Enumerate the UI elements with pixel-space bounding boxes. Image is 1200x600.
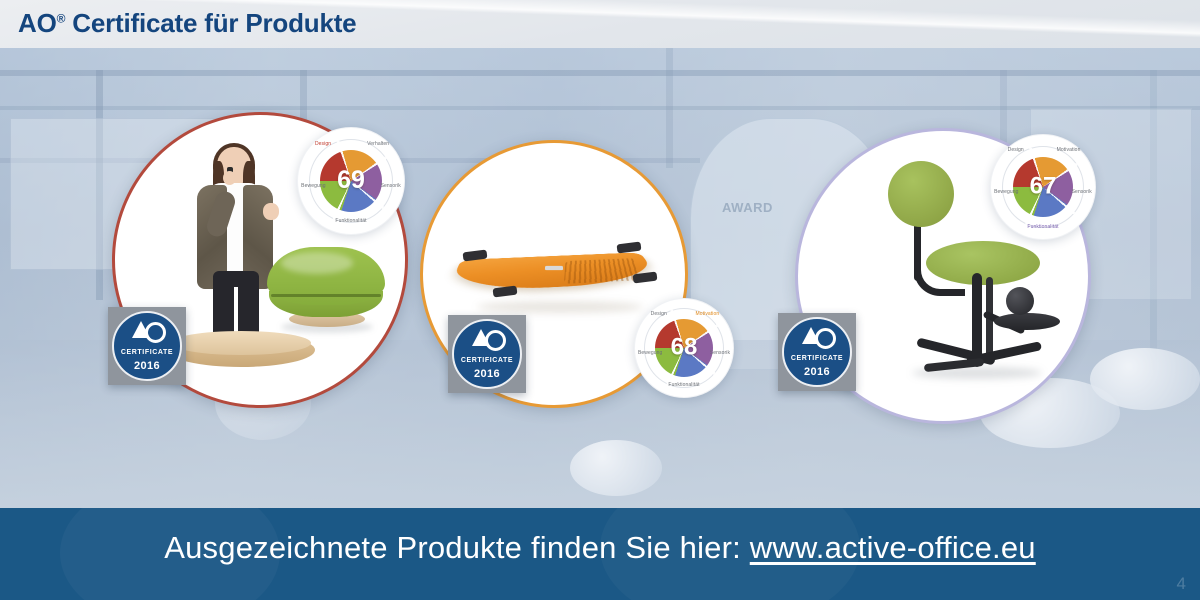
- badge-label-bewegung: Bewegung: [638, 350, 662, 356]
- booth-award-label: AWARD: [722, 200, 773, 215]
- seal-year: 2016: [134, 360, 160, 372]
- score-value-2: 68: [671, 333, 698, 361]
- certificate-seal-3[interactable]: CERTIFICATE 2016: [778, 313, 856, 391]
- certificate-seal-1[interactable]: CERTIFICATE 2016: [108, 307, 186, 385]
- score-badge-1[interactable]: 69 Design Verhalten Sensorik Funktionali…: [297, 127, 405, 235]
- product-1-green-stool: [267, 247, 385, 333]
- floor-object: [570, 440, 662, 496]
- seal-year: 2016: [804, 366, 830, 378]
- footer-text: Ausgezeichnete Produkte finden Sie hier:…: [0, 530, 1200, 566]
- title-rest: Certificate für Produkte: [65, 8, 356, 38]
- footer-url-link[interactable]: www.active-office.eu: [750, 530, 1036, 565]
- photo-stage: AWARD: [0, 48, 1200, 510]
- product-1-balance-board-top: [171, 331, 311, 355]
- hall-beam: [0, 70, 1200, 76]
- hall-beam: [0, 106, 1200, 110]
- badge-label-sensorik: Sensorik: [1072, 189, 1092, 195]
- badge-label-bewegung: Bewegung: [994, 189, 1018, 195]
- score-value-1: 69: [337, 166, 365, 195]
- ao-logo-icon: [472, 329, 502, 347]
- badge-label-design: Design: [1008, 147, 1024, 153]
- badge-label-motivation: Motivation: [1057, 147, 1081, 153]
- badge-label-sensorik: Sensorik: [381, 183, 401, 189]
- seal-certificate-text: CERTIFICATE: [121, 349, 173, 356]
- badge-label-sensorik: Sensorik: [710, 350, 730, 356]
- title-brand: AO: [18, 8, 57, 38]
- slide-root: AO® Certificate für Produkte AWARD: [0, 0, 1200, 600]
- badge-label-bewegung: Bewegung: [301, 183, 325, 189]
- seal-certificate-text: CERTIFICATE: [461, 357, 513, 364]
- seal-certificate-text: CERTIFICATE: [791, 355, 843, 362]
- badge-label-motivation: Motivation: [695, 311, 719, 317]
- badge-label-funktionalitaet: Funktionalität: [668, 382, 699, 388]
- floor-object: [1090, 348, 1200, 410]
- hall-column: [666, 48, 673, 168]
- seal-year: 2016: [474, 368, 500, 380]
- certificate-seal-2[interactable]: CERTIFICATE 2016: [448, 315, 526, 393]
- slide-header: AO® Certificate für Produkte: [0, 0, 1200, 48]
- score-value-3: 67: [1030, 172, 1057, 200]
- page-number: 4: [1177, 574, 1186, 594]
- score-badge-2[interactable]: 68 Design Motivation Sensorik Funktional…: [634, 298, 734, 398]
- registered-mark: ®: [57, 11, 66, 25]
- badge-label-design: Design: [315, 141, 331, 147]
- badge-label-funktionalitaet: Funktionalität: [1027, 224, 1058, 230]
- page-title: AO® Certificate für Produkte: [18, 8, 356, 39]
- product-2-wobble-board: [457, 229, 653, 311]
- slide-footer: Ausgezeichnete Produkte finden Sie hier:…: [0, 508, 1200, 600]
- footer-label: Ausgezeichnete Produkte finden Sie hier:: [164, 530, 750, 565]
- badge-label-design: Design: [651, 311, 667, 317]
- badge-label-funktionalitaet: Funktionalität: [335, 218, 366, 224]
- ao-logo-icon: [802, 327, 832, 345]
- badge-label-verhalten: Verhalten: [367, 141, 389, 147]
- score-badge-3[interactable]: 67 Design Motivation Sensorik Funktional…: [990, 134, 1096, 240]
- ao-logo-icon: [132, 321, 162, 339]
